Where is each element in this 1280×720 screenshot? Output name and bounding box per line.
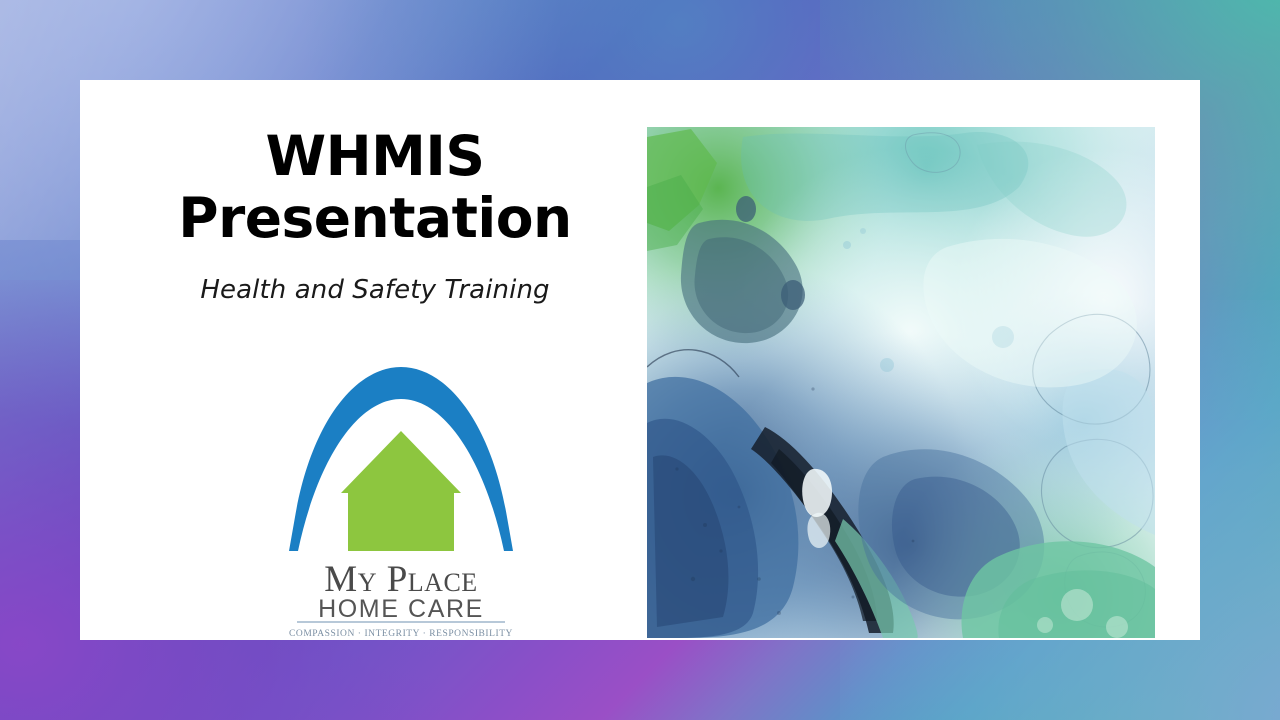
slide-subtitle: Health and Safety Training bbox=[110, 275, 640, 305]
logo-tagline-group: COMPASSION · INTEGRITY · RESPONSIBILITY bbox=[285, 618, 517, 642]
logo-wordmark-line1: My Place bbox=[324, 559, 477, 600]
presentation-slide: WHMIS Presentation Health and Safety Tra… bbox=[0, 0, 1280, 720]
logo-tagline: COMPASSION · INTEGRITY · RESPONSIBILITY bbox=[289, 629, 513, 639]
decorative-artwork-image bbox=[647, 127, 1155, 638]
logo-wordmark-line2: HOME CARE bbox=[318, 595, 484, 620]
company-logo: My Place HOME CARE COMPASSION · INTEGRIT… bbox=[285, 365, 517, 620]
page-title: WHMIS Presentation bbox=[110, 125, 640, 249]
artwork-graphic bbox=[647, 127, 1155, 638]
house-icon bbox=[341, 431, 461, 551]
slide-content-card: WHMIS Presentation Health and Safety Tra… bbox=[80, 80, 1200, 640]
logo-graphic: My Place HOME CARE bbox=[285, 365, 517, 620]
title-text-block: WHMIS Presentation Health and Safety Tra… bbox=[110, 125, 640, 305]
